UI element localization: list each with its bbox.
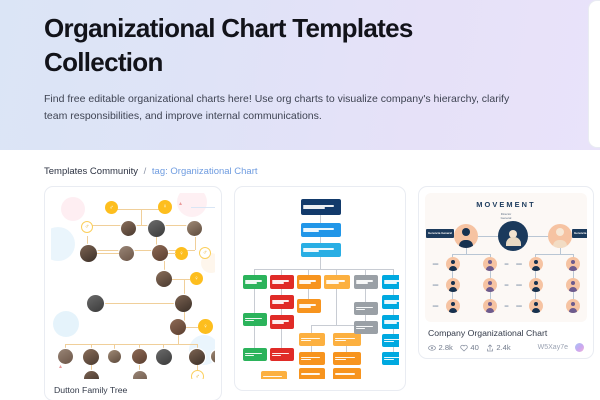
staff-label: ▃▃▃ xyxy=(427,304,444,307)
person-avatar xyxy=(83,349,99,365)
chart-node xyxy=(382,295,399,309)
template-card-partial-wrap xyxy=(588,0,600,148)
tree-link xyxy=(94,303,184,304)
share-icon xyxy=(486,344,494,352)
breadcrumb: Templates Community / tag: Organizationa… xyxy=(0,150,600,186)
person-avatar xyxy=(133,371,147,379)
chart-link xyxy=(320,215,321,223)
likes-count: 40 xyxy=(470,343,478,352)
chart-node xyxy=(297,275,321,289)
person-avatar xyxy=(152,245,168,261)
chart-node xyxy=(270,315,294,329)
tree-link xyxy=(65,344,197,345)
staff-label: ▃▃▃ xyxy=(511,283,527,286)
card-meta: 2.8k 40 2.4k W5Xay7e xyxy=(425,338,587,353)
staff-avatar xyxy=(483,278,497,292)
eye-icon xyxy=(428,344,436,352)
avatar-head-icon xyxy=(556,228,564,236)
chart-link xyxy=(535,254,573,255)
chart-node xyxy=(301,199,341,215)
chart-node xyxy=(270,275,294,289)
decor-blob-icon xyxy=(53,311,79,337)
template-card-partial[interactable] xyxy=(588,0,600,148)
tree-link xyxy=(186,327,198,328)
person-avatar xyxy=(156,271,172,287)
staff-avatar xyxy=(529,257,543,271)
heart-icon xyxy=(460,344,468,352)
right-department-label: Gerencia General xyxy=(572,229,587,238)
tree-link xyxy=(178,335,179,344)
staff-avatar xyxy=(483,299,497,313)
gender-female-icon: ♀ xyxy=(175,247,188,260)
template-card-family-tree[interactable]: ♂ ♀ ♂ ♀ ♂ ♀ xyxy=(44,186,222,400)
template-card-grid: ♂ ♀ ♂ ♀ ♂ ♀ xyxy=(0,186,600,400)
chart-node xyxy=(333,333,361,346)
chart-node xyxy=(301,223,341,237)
chart-node xyxy=(333,352,361,365)
person-avatar xyxy=(148,220,165,237)
staff-label: ▃▃ xyxy=(582,304,587,307)
person-avatar xyxy=(132,349,147,364)
page-title: Organizational Chart Templates Collectio… xyxy=(44,12,514,80)
chart-subtitle-2: General xyxy=(425,216,587,220)
chart-link xyxy=(311,325,312,333)
tree-link xyxy=(184,312,185,322)
chart-node xyxy=(354,321,378,334)
staff-avatar xyxy=(529,299,543,313)
tree-link xyxy=(87,225,197,226)
chart-link xyxy=(336,289,337,325)
chart-node xyxy=(354,302,378,315)
chart-node xyxy=(299,333,325,346)
chart-node xyxy=(270,295,294,309)
staff-avatar xyxy=(566,257,580,271)
chart-node xyxy=(243,275,267,289)
person-avatar xyxy=(58,349,73,364)
gender-male-icon: ♂ xyxy=(191,370,204,379)
person-avatar xyxy=(119,246,134,261)
marker-icon xyxy=(59,365,62,368)
gender-male-icon: ♂ xyxy=(199,247,211,259)
person-avatar xyxy=(108,350,121,363)
staff-label: ▃▃ xyxy=(582,262,587,265)
avatar-body-icon xyxy=(459,240,474,248)
chart-node xyxy=(299,352,325,365)
tree-link xyxy=(195,237,196,250)
gender-female-icon: ♀ xyxy=(198,319,213,334)
chart-node xyxy=(243,313,267,326)
chart-node xyxy=(261,371,287,379)
chart-node xyxy=(301,243,341,257)
staff-avatar xyxy=(446,257,460,271)
staff-avatar xyxy=(529,278,543,292)
decor-blob-icon xyxy=(61,197,85,221)
staff-label: ▃▃ xyxy=(582,283,587,286)
chart-node xyxy=(382,275,399,289)
chart-link xyxy=(254,269,394,270)
chart-link xyxy=(365,289,366,302)
avatar-head-icon xyxy=(462,228,470,236)
gender-female-icon: ♀ xyxy=(158,200,172,214)
chart-node xyxy=(333,368,361,379)
company-org-thumbnail: MOVEMENT Director General Gerencia Gener… xyxy=(425,193,587,322)
chart-link xyxy=(308,289,309,299)
tree-link xyxy=(141,209,142,225)
person-avatar xyxy=(121,221,136,236)
likes-stat[interactable]: 40 xyxy=(460,343,479,352)
chart-node xyxy=(299,368,325,379)
staff-avatar xyxy=(446,299,460,313)
views-count: 2.8k xyxy=(439,343,453,352)
chart-link xyxy=(281,329,282,348)
person-avatar xyxy=(80,245,97,262)
card-title xyxy=(595,136,600,142)
staff-label: ▃▃▃ xyxy=(427,283,444,286)
staff-avatar xyxy=(566,299,580,313)
breadcrumb-root[interactable]: Templates Community xyxy=(44,166,138,177)
person-avatar xyxy=(189,349,205,365)
hero-banner: Organizational Chart Templates Collectio… xyxy=(0,0,600,150)
person-avatar xyxy=(175,295,192,312)
person-avatar xyxy=(156,349,172,365)
chart-node xyxy=(354,275,378,289)
decor-blob-icon xyxy=(51,227,75,261)
manager-avatar-left xyxy=(454,224,478,248)
staff-label: ▃▃▃ xyxy=(511,304,527,307)
breadcrumb-separator: / xyxy=(144,166,147,177)
gender-female-icon: ♀ xyxy=(190,272,203,285)
person-avatar xyxy=(84,371,99,379)
card-title: Dutton Family Tree xyxy=(51,379,215,395)
decor-blob-icon xyxy=(177,193,207,217)
views-stat: 2.8k xyxy=(428,343,453,352)
left-department-label: Gerencia General xyxy=(426,229,454,238)
partial-thumbnail xyxy=(595,7,600,136)
chart-link xyxy=(254,289,255,313)
tree-link xyxy=(97,253,119,254)
shares-count: 2.4k xyxy=(496,343,510,352)
gender-male-icon: ♂ xyxy=(81,221,93,233)
manager-avatar-right xyxy=(548,224,572,248)
staff-avatar xyxy=(483,257,497,271)
chart-node xyxy=(382,315,399,329)
avatar-body-icon xyxy=(553,240,568,248)
colored-org-thumbnail xyxy=(241,193,399,379)
tree-link xyxy=(168,253,176,254)
chart-node xyxy=(297,299,321,313)
chart-heading: MOVEMENT xyxy=(425,200,587,209)
page-description: Find free editable organizational charts… xyxy=(44,91,524,126)
breadcrumb-tag[interactable]: tag: Organizational Chart xyxy=(152,166,258,177)
card-title: Company Organizational Chart xyxy=(425,322,587,338)
chart-node xyxy=(382,334,399,347)
person-avatar xyxy=(187,221,202,236)
staff-avatar xyxy=(446,278,460,292)
chart-link xyxy=(254,326,255,348)
template-card-company-org[interactable]: MOVEMENT Director General Gerencia Gener… xyxy=(418,186,594,359)
staff-label: ▃▃▃ xyxy=(511,262,527,265)
person-avatar xyxy=(87,295,104,312)
staff-label: ▃▃▃ xyxy=(427,262,444,265)
gender-male-icon: ♂ xyxy=(105,201,118,214)
chart-link xyxy=(452,254,490,255)
chart-node xyxy=(324,275,350,289)
template-card-colored-org[interactable] xyxy=(234,186,406,391)
director-avatar xyxy=(498,221,528,251)
author-name[interactable]: W5Xay7e xyxy=(538,344,568,351)
chart-link xyxy=(320,257,321,269)
tree-link xyxy=(191,207,215,208)
avatar-body-icon xyxy=(506,237,521,246)
chart-node xyxy=(382,352,399,365)
shares-stat[interactable]: 2.4k xyxy=(486,343,511,352)
chart-node xyxy=(270,348,294,361)
family-tree-thumbnail: ♂ ♀ ♂ ♀ ♂ ♀ xyxy=(51,193,215,379)
card-title xyxy=(241,379,399,385)
person-avatar xyxy=(170,319,186,335)
staff-avatar xyxy=(566,278,580,292)
author-avatar-icon[interactable] xyxy=(575,343,584,352)
chart-node xyxy=(243,348,267,361)
tree-link xyxy=(172,279,190,280)
